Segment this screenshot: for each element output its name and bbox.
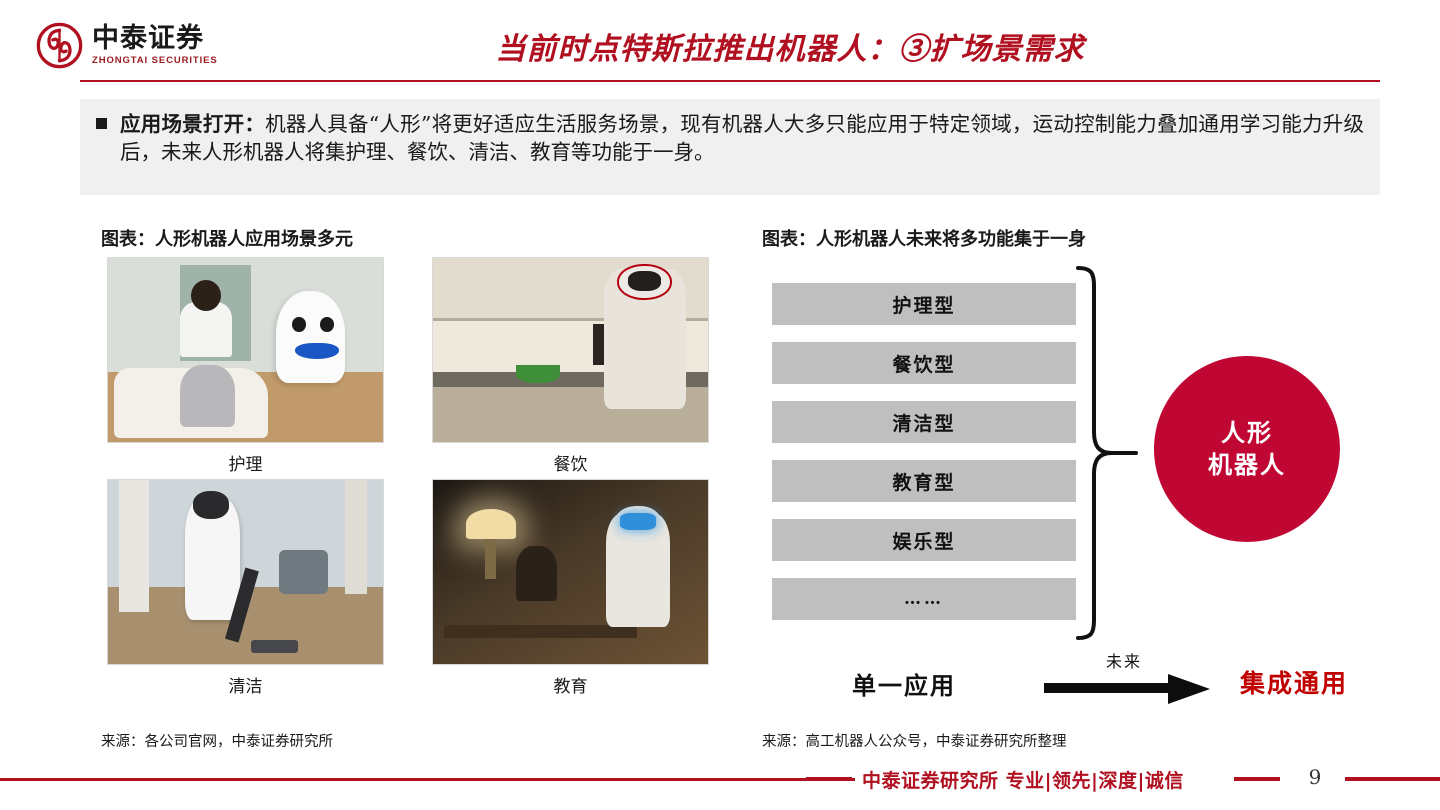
callout-text: 应用场景打开：机器人具备“人形”将更好适应生活服务场景，现有机器人大多只能应用于… [120,110,1364,167]
square-bullet-icon [96,118,107,129]
right-arrow-icon [1042,672,1214,706]
photo-desk [444,625,637,638]
flow-arrow-label: 未来 [1064,648,1184,672]
capability-bar-list: 护理型 餐饮型 清洁型 教育型 娱乐型 …… [772,283,1076,637]
figure-title-left: 图表：人形机器人应用场景多元 [101,225,353,251]
source-note-left: 来源：各公司官网，中泰证券研究所 [101,730,333,751]
photo-desk-lamp-stand [485,539,496,579]
footer-dash-right [1345,777,1440,781]
photo-robot-body [276,291,345,383]
capability-bar-catering[interactable]: 餐饮型 [772,342,1076,384]
photo-caption: 餐饮 [432,450,709,475]
photo-cell-nursing: 护理 [107,257,384,475]
callout-row: 应用场景打开：机器人具备“人形”将更好适应生活服务场景，现有机器人大多只能应用于… [96,110,1364,167]
header-divider [80,80,1380,82]
flow-to-label: 集成通用 [1240,664,1348,700]
right-pointing-curly-brace-icon [1074,264,1146,642]
figure-title-right: 图表：人形机器人未来将多功能集于一身 [762,225,1086,251]
slide-footer: 中泰证券研究所 专业|领先|深度|诚信 9 [0,752,1440,810]
photo-person-seated [180,365,235,428]
photo-caption: 护理 [107,450,384,475]
slide-header: 中泰证券 ZHONGTAI SECURITIES 当前时点特斯拉推出机器人：③扩… [0,0,1440,84]
slide-root: 中泰证券 ZHONGTAI SECURITIES 当前时点特斯拉推出机器人：③扩… [0,0,1440,810]
photo-catering [432,257,709,443]
callout-box: 应用场景打开：机器人具备“人形”将更好适应生活服务场景，现有机器人大多只能应用于… [80,99,1380,195]
photo-robot-head [193,491,229,519]
brand-name-cn: 中泰证券 [92,25,218,53]
photo-cell-cleaning: 清洁 [107,479,384,697]
photo-desk-lamp-shade [466,509,516,538]
page-number: 9 [1300,765,1330,789]
photo-cleaning [107,479,384,665]
capability-bar-education[interactable]: 教育型 [772,460,1076,502]
capability-bar-nursing[interactable]: 护理型 [772,283,1076,325]
photo-education [432,479,709,665]
capability-bar-entertainment[interactable]: 娱乐型 [772,519,1076,561]
photo-robot-face [628,271,661,291]
source-note-right: 来源：高工机器人公众号，中泰证券研究所整理 [762,730,1067,751]
photo-robot-eye-right [320,317,334,332]
photo-pillar-left [119,480,149,612]
callout-lead: 应用场景打开： [120,112,265,136]
footer-dash-left [806,777,852,781]
brand-name-en: ZHONGTAI SECURITIES [92,56,218,66]
photo-grid: 护理 餐饮 [101,257,721,717]
photo-caption: 教育 [432,672,709,697]
photo-caregiver-head [191,280,221,311]
flow-row: 单一应用 未来 集成通用 [852,648,1382,708]
photo-vacuum-head [251,640,298,653]
photo-cell-catering: 餐饮 [432,257,709,475]
photo-armchair [279,550,329,594]
photo-cell-education: 教育 [432,479,709,697]
humanoid-robot-circle: 人形 机器人 [1154,356,1340,542]
circle-line-1: 人形 [1221,417,1273,449]
circle-line-2: 机器人 [1208,449,1286,481]
footer-dash-middle [1234,777,1280,781]
capability-bar-cleaning[interactable]: 清洁型 [772,401,1076,443]
page-title: 当前时点特斯拉推出机器人：③扩场景需求 [340,24,1240,68]
brand-logo-text: 中泰证券 ZHONGTAI SECURITIES [92,25,218,66]
footer-tagline: 中泰证券研究所 专业|领先|深度|诚信 [862,766,1184,793]
zhongtai-circular-emblem-icon [36,22,83,69]
footer-rule-left [0,778,855,781]
photo-green-bowl [516,365,560,383]
flow-arrow-group: 未来 [1042,648,1227,706]
flow-from-label: 单一应用 [852,666,956,701]
capability-convergence-diagram: 护理型 餐饮型 清洁型 教育型 娱乐型 …… 人形 机器人 单一应用 未来 集成… [762,256,1382,716]
photo-child [516,546,557,601]
callout-body: 机器人具备“人形”将更好适应生活服务场景，现有机器人大多只能应用于特定领域，运动… [120,112,1364,164]
capability-bar-ellipsis[interactable]: …… [772,578,1076,620]
photo-robot-face-screen [620,513,656,530]
photo-robot-eye-left [292,317,306,332]
photo-caption: 清洁 [107,672,384,697]
photo-nursing [107,257,384,443]
brand-logo: 中泰证券 ZHONGTAI SECURITIES [36,22,218,69]
photo-pillar-right [345,480,367,594]
